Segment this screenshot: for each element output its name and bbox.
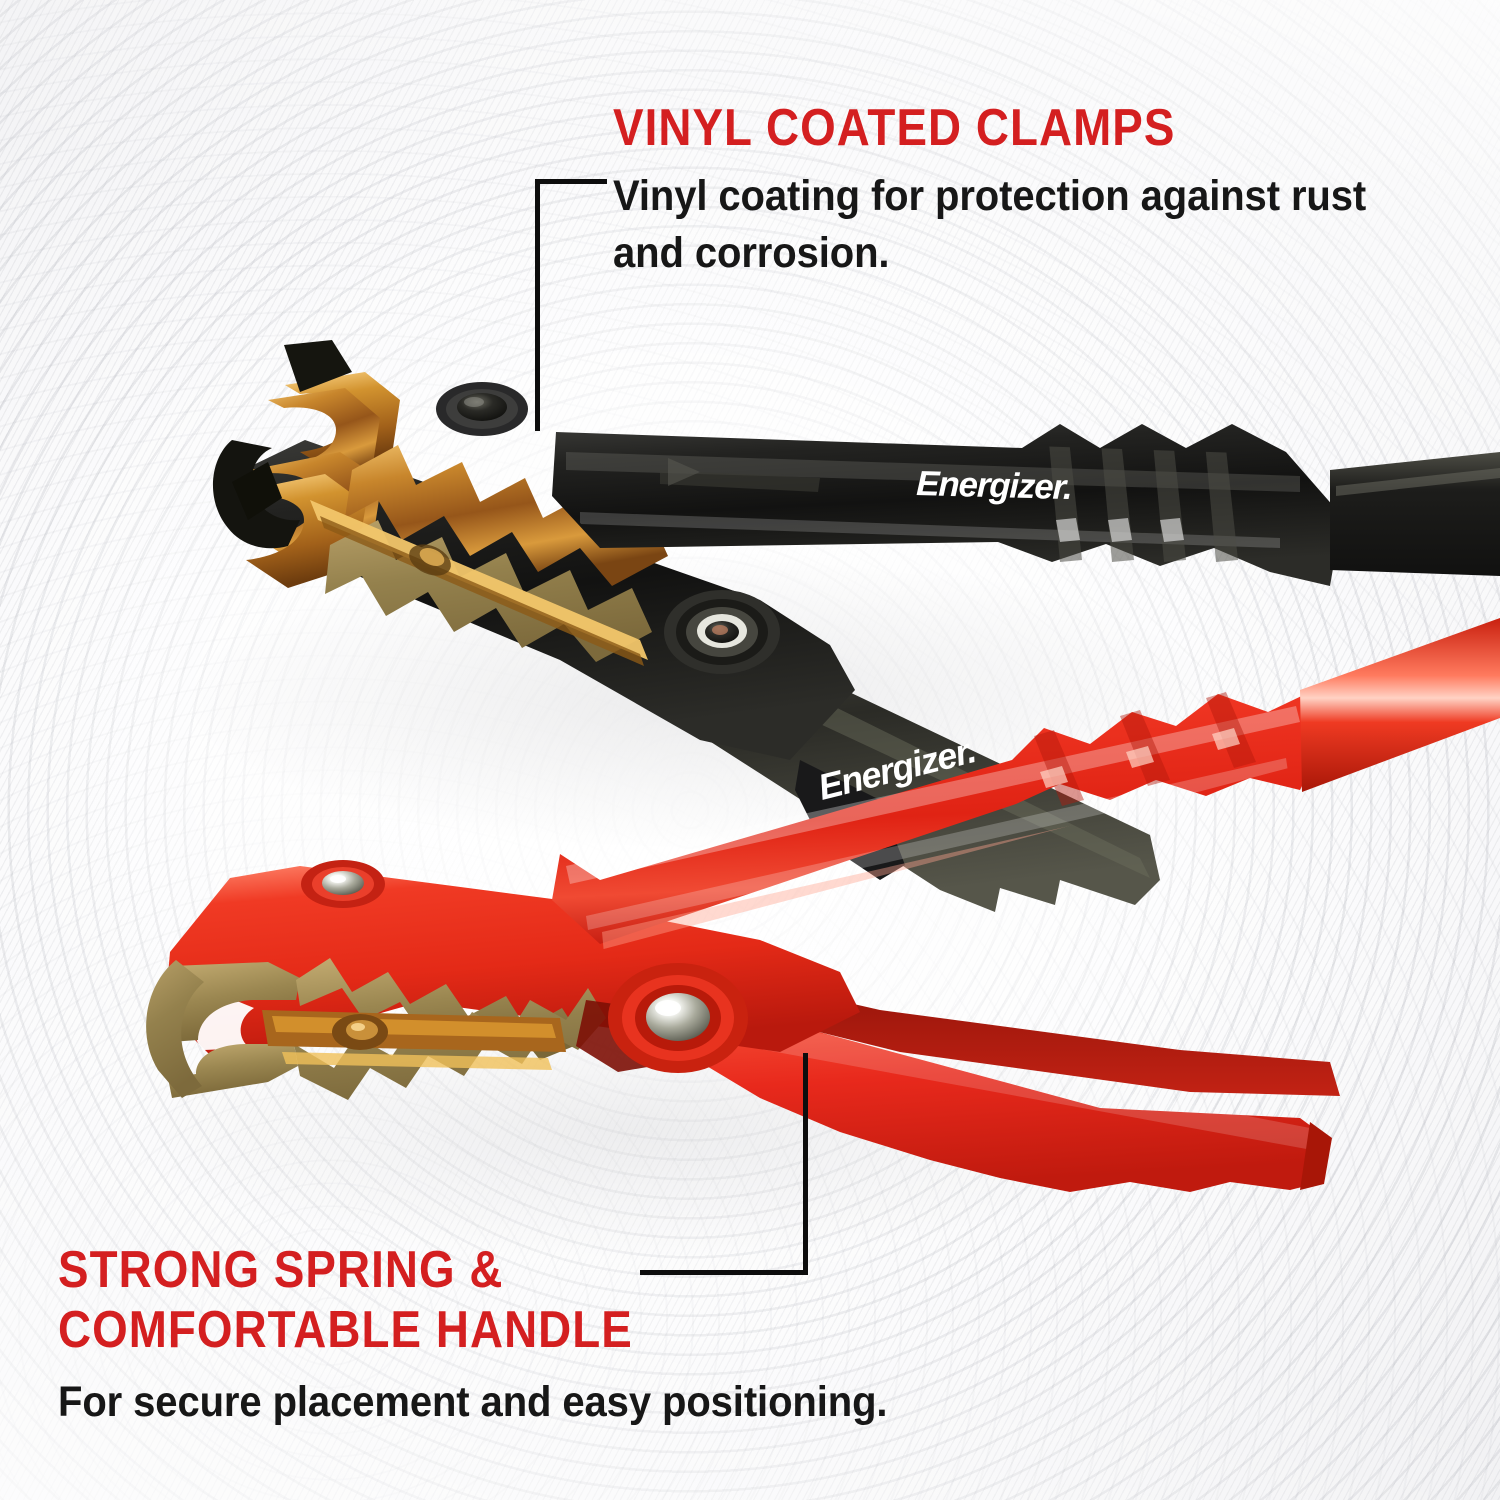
leader-line-top-vertical (535, 179, 540, 431)
callout-body-vinyl: Vinyl coating for protection against rus… (613, 168, 1500, 282)
black-clamp-top-rivet (436, 382, 528, 436)
product-feature-image: Energizer. (0, 0, 1500, 1500)
brand-logo-black: Energizer. (916, 464, 1072, 507)
red-clamp-cable (1300, 618, 1500, 792)
red-clamp-top-rivet (301, 860, 385, 908)
leader-line-top-horizontal (535, 179, 607, 184)
black-clamp-pivot-rivet (664, 590, 780, 674)
callout-strong-spring-handle: STRONG SPRING & COMFORTABLE HANDLE For s… (58, 1240, 1238, 1431)
callout-heading-spring: STRONG SPRING & COMFORTABLE HANDLE (58, 1240, 1096, 1360)
black-clamp-cable (1330, 452, 1500, 576)
callout-body-spring: For secure placement and easy positionin… (58, 1374, 1155, 1431)
red-clamp-pivot-rivet (608, 963, 748, 1073)
callout-heading-vinyl: VINYL COATED CLAMPS (613, 98, 1458, 158)
callout-vinyl-coated-clamps: VINYL COATED CLAMPS Vinyl coating for pr… (613, 98, 1500, 282)
